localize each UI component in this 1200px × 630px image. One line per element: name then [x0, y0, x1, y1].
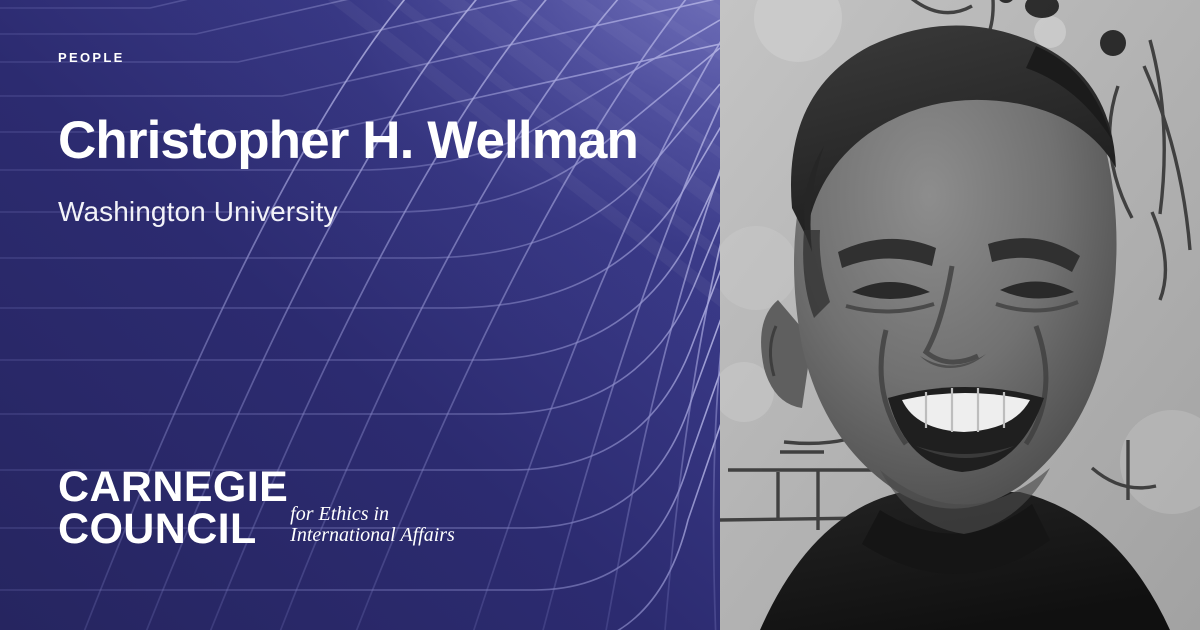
portrait-illustration	[720, 0, 1200, 630]
logo-word-carnegie: CARNEGIE	[58, 468, 288, 508]
portrait-photo	[720, 0, 1200, 630]
affiliation-subtitle: Washington University	[58, 195, 680, 229]
blue-panel: PEOPLE Christopher H. Wellman Washington…	[0, 0, 720, 630]
logo-wordmark: CARNEGIE COUNCIL	[58, 468, 288, 550]
carnegie-council-logo[interactable]: CARNEGIE COUNCIL for Ethics in Internati…	[58, 468, 680, 550]
content-type-label: PEOPLE	[58, 50, 680, 65]
spacer	[58, 229, 680, 468]
logo-tagline-line-2: International Affairs	[290, 525, 455, 547]
page-title: Christopher H. Wellman	[58, 113, 680, 169]
title-block: Christopher H. Wellman Washington Univer…	[58, 113, 680, 229]
people-share-card: PEOPLE Christopher H. Wellman Washington…	[0, 0, 1200, 630]
logo-tagline: for Ethics in International Affairs	[290, 504, 455, 547]
panel-content: PEOPLE Christopher H. Wellman Washington…	[0, 0, 720, 630]
logo-tagline-line-1: for Ethics in	[290, 504, 455, 526]
logo-word-council: COUNCIL	[58, 510, 288, 550]
